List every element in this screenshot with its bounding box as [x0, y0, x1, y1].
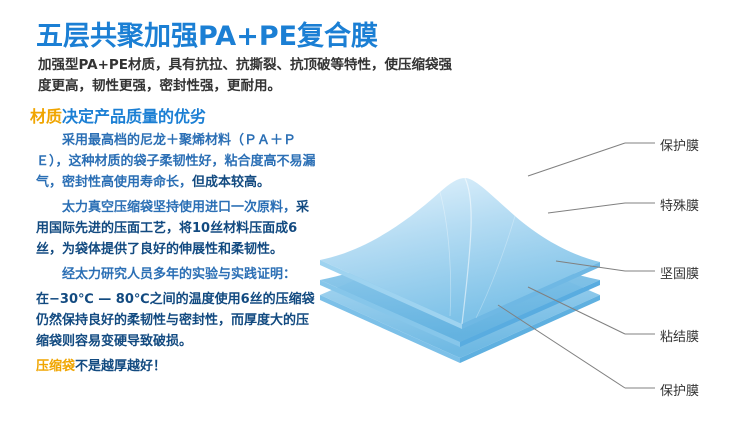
- paragraph-4-text: 在−30℃ — 80℃之间的温度使用6丝的压缩袋仍然保持良好的柔韧性与密封性，而…: [36, 292, 315, 349]
- callout-label-2: 特殊膜: [660, 195, 699, 214]
- paragraph-3-text: 经太力研究人员多年的实验与实践证明：: [62, 267, 296, 282]
- paragraph-5-rest: 不是越厚越好！: [75, 359, 166, 374]
- paragraph-5: 压缩袋不是越厚越好！: [36, 356, 316, 377]
- body-copy: 采用最高档的尼龙＋聚烯材料（ＰＡ＋ＰＥ），这种材质的袋子柔韧性好，粘合度高不易漏…: [36, 130, 316, 381]
- paragraph-2: 太力真空压缩袋坚持使用进口一次原料，采用国际先进的压面工艺，将10丝材料压面成6…: [36, 197, 316, 260]
- section-heading-accent: 材质: [30, 107, 62, 126]
- callout-label-3: 坚固膜: [660, 263, 699, 282]
- paragraph-2-text-a: 太力真空压缩袋坚持使用进口一次原料，: [62, 200, 296, 215]
- paragraph-3: 经太力研究人员多年的实验与实践证明：: [36, 264, 316, 285]
- page-title: 五层共聚加强PA+PE复合膜: [36, 14, 378, 53]
- section-heading: 材质决定产品质量的优劣: [30, 103, 206, 127]
- paragraph-1: 采用最高档的尼龙＋聚烯材料（ＰＡ＋ＰＥ），这种材质的袋子柔韧性好，粘合度高不易漏…: [36, 130, 316, 193]
- callout-label-5: 保护膜: [660, 380, 699, 399]
- section-heading-rest: 决定产品质量的优劣: [62, 107, 206, 126]
- paragraph-1-text: 采用最高档的尼龙＋聚烯材料（ＰＡ＋ＰＥ），这种材质的袋子柔韧性好，粘合度高不易漏…: [36, 133, 316, 190]
- paragraph-4: 在−30℃ — 80℃之间的温度使用6丝的压缩袋仍然保持良好的柔韧性与密封性，而…: [36, 289, 316, 352]
- callout-label-1: 保护膜: [660, 135, 699, 154]
- paragraph-1-emphasis: 但成本较高。: [192, 175, 270, 190]
- page-root: 五层共聚加强PA+PE复合膜 加强型PA+PE材质，具有抗拉、抗撕裂、抗顶破等特…: [0, 0, 750, 440]
- page-subtitle: 加强型PA+PE材质，具有抗拉、抗撕裂、抗顶破等特性，使压缩袋强度更高，韧性更强…: [38, 55, 458, 97]
- callout-label-4: 粘结膜: [660, 326, 699, 345]
- paragraph-5-accent: 压缩袋: [36, 359, 75, 374]
- film-illustration: [300, 120, 630, 370]
